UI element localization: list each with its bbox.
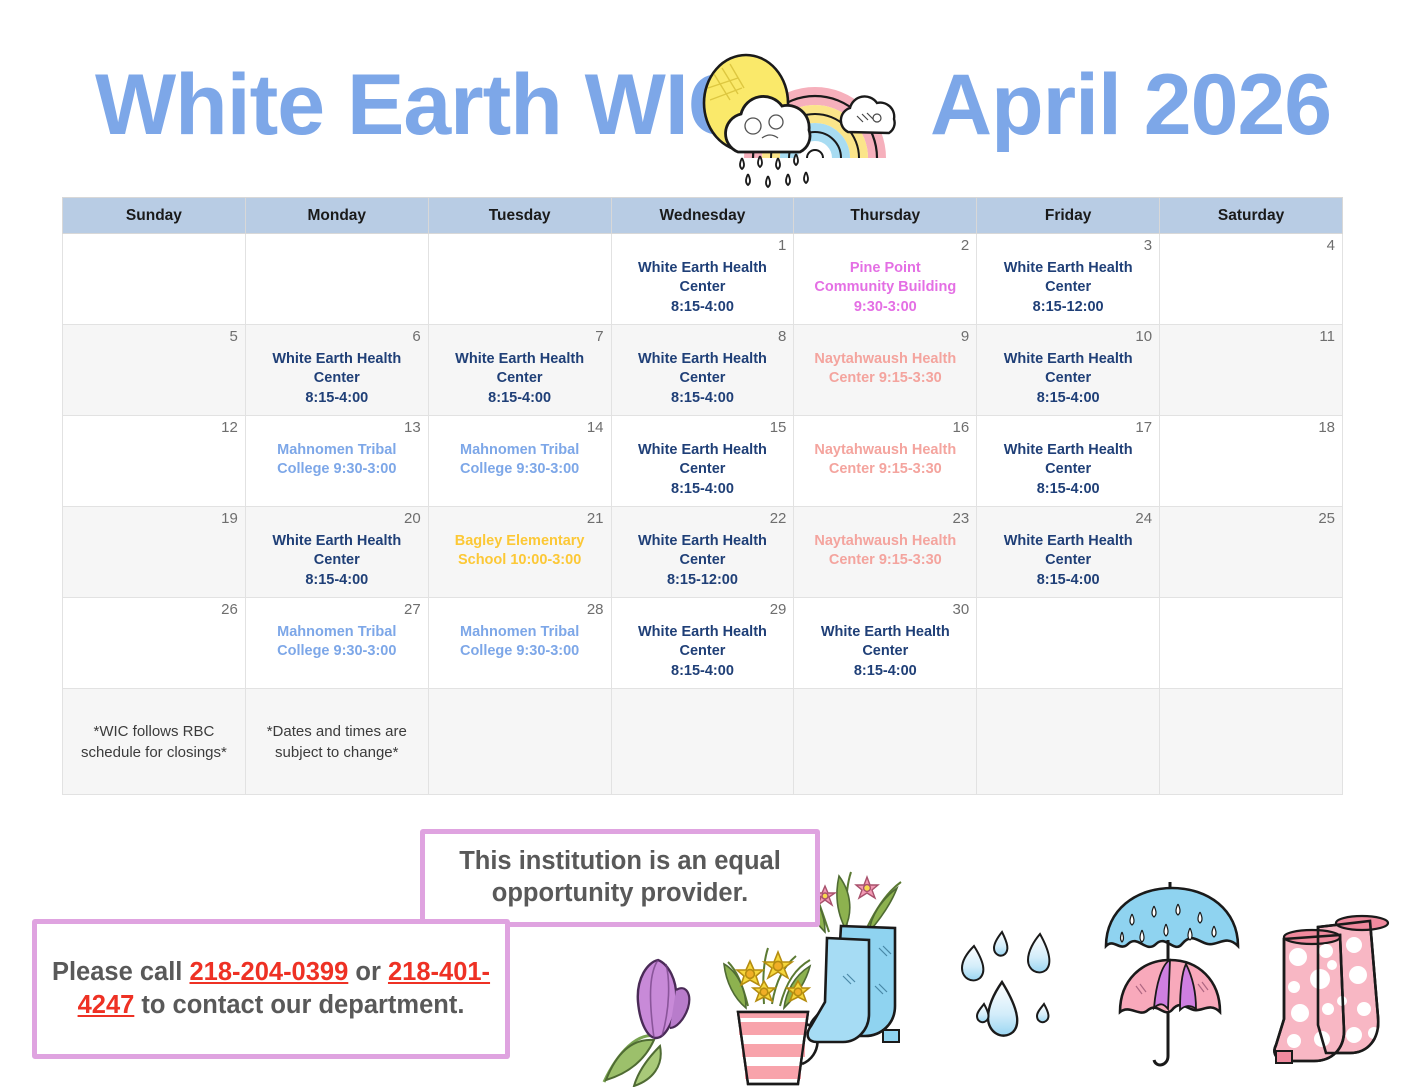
calendar-day-cell-11[interactable]: 11 [1160,325,1343,416]
call-middle-text: or [348,958,388,986]
calendar-day-cell-25[interactable]: 25 [1160,507,1343,598]
calendar-day-cell-7[interactable]: 7White Earth Health Center 8:15-4:00 [428,325,611,416]
day-event-text: White Earth Health Center 8:15-4:00 [619,259,787,317]
footer-note-text: *WIC follows RBC schedule for closings* [71,721,237,763]
blue-and-pink-umbrellas-icon [1098,872,1248,1072]
footer-note-cell: *Dates and times are subject to change* [245,689,428,795]
day-event-text: White Earth Health Center 8:15-12:00 [984,259,1152,317]
day-number: 1 [619,237,787,256]
calendar-day-cell-19[interactable]: 19 [63,507,246,598]
day-number [984,601,1152,620]
page-title-left: White Earth WIC [95,62,749,148]
day-number: 16 [801,419,969,438]
purple-tulip-icon [598,950,710,1087]
calendar-day-cell-9[interactable]: 9Naytahwaush Health Center 9:15-3:30 [794,325,977,416]
footer-note-cell [977,689,1160,795]
day-event-text: White Earth Health Center 8:15-4:00 [619,350,787,408]
footer-note-cell [1160,689,1343,795]
calendar-day-cell-26[interactable]: 26 [63,598,246,689]
calendar-day-cell-2[interactable]: 2Pine Point Community Building 9:30-3:00 [794,234,977,325]
day-number: 21 [436,510,604,529]
day-event-text: White Earth Health Center 8:15-4:00 [801,623,969,681]
day-number [70,237,238,256]
pink-polka-dot-rain-boots-icon [1270,905,1400,1085]
calendar-day-cell-23[interactable]: 23Naytahwaush Health Center 9:15-3:30 [794,507,977,598]
calendar-table: Sunday Monday Tuesday Wednesday Thursday… [62,197,1343,795]
day-event-text: White Earth Health Center 8:15-4:00 [984,532,1152,590]
day-event-text: Bagley Elementary School 10:00-3:00 [436,532,604,571]
calendar-day-cell-3[interactable]: 3White Earth Health Center 8:15-12:00 [977,234,1160,325]
day-event-text: White Earth Health Center 8:15-4:00 [984,441,1152,499]
day-event-text: Naytahwaush Health Center 9:15-3:30 [801,441,969,480]
day-number: 9 [801,328,969,347]
day-number [253,237,421,256]
calendar-day-cell-17[interactable]: 17White Earth Health Center 8:15-4:00 [977,416,1160,507]
calendar-day-cell-empty[interactable] [977,598,1160,689]
day-number: 24 [984,510,1152,529]
day-event-text: Mahnomen Tribal College 9:30-3:00 [253,623,421,662]
calendar-day-cell-20[interactable]: 20White Earth Health Center 8:15-4:00 [245,507,428,598]
calendar-day-cell-13[interactable]: 13Mahnomen Tribal College 9:30-3:00 [245,416,428,507]
day-number: 22 [619,510,787,529]
calendar-day-cell-empty[interactable] [428,234,611,325]
day-number: 4 [1167,237,1335,256]
page-header: White Earth WIC [0,0,1408,195]
day-number: 14 [436,419,604,438]
calendar-footer-row: *WIC follows RBC schedule for closings**… [63,689,1343,795]
day-event-text: Mahnomen Tribal College 9:30-3:00 [253,441,421,480]
calendar-week-row: 56White Earth Health Center 8:15-4:007Wh… [63,325,1343,416]
day-number: 15 [619,419,787,438]
day-number: 12 [70,419,238,438]
calendar-week-row: 1213Mahnomen Tribal College 9:30-3:0014M… [63,416,1343,507]
day-number: 3 [984,237,1152,256]
weekday-header-wednesday: Wednesday [611,198,794,234]
day-number: 27 [253,601,421,620]
day-number: 5 [70,328,238,347]
day-number: 2 [801,237,969,256]
day-event-text: White Earth Health Center 8:15-4:00 [984,350,1152,408]
calendar-day-cell-21[interactable]: 21Bagley Elementary School 10:00-3:00 [428,507,611,598]
day-event-text: White Earth Health Center 8:15-4:00 [619,623,787,681]
sun-rainbow-rainclouds-icon [690,8,940,193]
calendar-day-cell-22[interactable]: 22White Earth Health Center 8:15-12:00 [611,507,794,598]
calendar-day-cell-28[interactable]: 28Mahnomen Tribal College 9:30-3:00 [428,598,611,689]
weekday-header-tuesday: Tuesday [428,198,611,234]
calendar-day-cell-18[interactable]: 18 [1160,416,1343,507]
day-number: 23 [801,510,969,529]
weekday-header-thursday: Thursday [794,198,977,234]
calendar-day-cell-29[interactable]: 29White Earth Health Center 8:15-4:00 [611,598,794,689]
calendar-day-cell-4[interactable]: 4 [1160,234,1343,325]
day-event-text: White Earth Health Center 8:15-4:00 [436,350,604,408]
day-number: 7 [436,328,604,347]
footer-note-text: *Dates and times are subject to change* [254,721,420,763]
day-number: 6 [253,328,421,347]
calendar-day-cell-empty[interactable] [245,234,428,325]
calendar-body: 1White Earth Health Center 8:15-4:002Pin… [63,234,1343,795]
calendar-week-row: 1White Earth Health Center 8:15-4:002Pin… [63,234,1343,325]
weekday-header-saturday: Saturday [1160,198,1343,234]
calendar-day-cell-5[interactable]: 5 [63,325,246,416]
equal-opportunity-text: This institution is an equal opportunity… [425,846,815,910]
calendar-day-cell-8[interactable]: 8White Earth Health Center 8:15-4:00 [611,325,794,416]
day-number: 26 [70,601,238,620]
day-event-text: White Earth Health Center 8:15-12:00 [619,532,787,590]
day-number: 13 [253,419,421,438]
contact-phone-callout: Please call 218-204-0399 or 218-401-4247… [32,919,510,1059]
calendar-day-cell-6[interactable]: 6White Earth Health Center 8:15-4:00 [245,325,428,416]
calendar-day-cell-16[interactable]: 16Naytahwaush Health Center 9:15-3:30 [794,416,977,507]
calendar-day-cell-14[interactable]: 14Mahnomen Tribal College 9:30-3:00 [428,416,611,507]
day-number: 25 [1167,510,1335,529]
weekday-header-friday: Friday [977,198,1160,234]
day-event-text: White Earth Health Center 8:15-4:00 [253,350,421,408]
day-number: 29 [619,601,787,620]
calendar-day-cell-10[interactable]: 10White Earth Health Center 8:15-4:00 [977,325,1160,416]
calendar-day-cell-1[interactable]: 1White Earth Health Center 8:15-4:00 [611,234,794,325]
contact-text: Please call 218-204-0399 or 218-401-4247… [51,956,491,1022]
day-event-text: White Earth Health Center 8:15-4:00 [253,532,421,590]
day-number [1167,601,1335,620]
footer-note-cell [611,689,794,795]
footer-note-cell [428,689,611,795]
raindrops-icon [958,920,1070,1048]
calendar-day-cell-12[interactable]: 12 [63,416,246,507]
weekday-header-sunday: Sunday [63,198,246,234]
footer-note-cell [794,689,977,795]
phone-link-1[interactable]: 218-204-0399 [189,958,348,986]
day-event-text: Mahnomen Tribal College 9:30-3:00 [436,623,604,662]
calendar-day-cell-empty[interactable] [63,234,246,325]
day-number: 20 [253,510,421,529]
day-number: 8 [619,328,787,347]
day-number: 11 [1167,328,1335,347]
day-number: 19 [70,510,238,529]
equal-opportunity-callout: This institution is an equal opportunity… [420,829,820,927]
page-title-right: April 2026 [930,62,1331,148]
day-event-text: White Earth Health Center 8:15-4:00 [619,441,787,499]
day-number: 17 [984,419,1152,438]
day-event-text: Naytahwaush Health Center 9:15-3:30 [801,532,969,571]
day-event-text: Mahnomen Tribal College 9:30-3:00 [436,441,604,480]
calendar-day-cell-24[interactable]: 24White Earth Health Center 8:15-4:00 [977,507,1160,598]
calendar-weekday-header-row: Sunday Monday Tuesday Wednesday Thursday… [63,198,1343,234]
footer-note-cell: *WIC follows RBC schedule for closings* [63,689,246,795]
day-number: 18 [1167,419,1335,438]
calendar-day-cell-30[interactable]: 30White Earth Health Center 8:15-4:00 [794,598,977,689]
day-number: 28 [436,601,604,620]
call-suffix-text: to contact our department. [134,991,464,1019]
calendar-week-row: 2627Mahnomen Tribal College 9:30-3:0028M… [63,598,1343,689]
call-prefix-text: Please call [52,958,190,986]
calendar-week-row: 1920White Earth Health Center 8:15-4:002… [63,507,1343,598]
day-event-text: Naytahwaush Health Center 9:15-3:30 [801,350,969,389]
day-number: 30 [801,601,969,620]
calendar-day-cell-empty[interactable] [1160,598,1343,689]
day-event-text: Pine Point Community Building 9:30-3:00 [801,259,969,317]
weekday-header-monday: Monday [245,198,428,234]
day-number [436,237,604,256]
calendar-day-cell-27[interactable]: 27Mahnomen Tribal College 9:30-3:00 [245,598,428,689]
calendar-day-cell-15[interactable]: 15White Earth Health Center 8:15-4:00 [611,416,794,507]
day-number: 10 [984,328,1152,347]
